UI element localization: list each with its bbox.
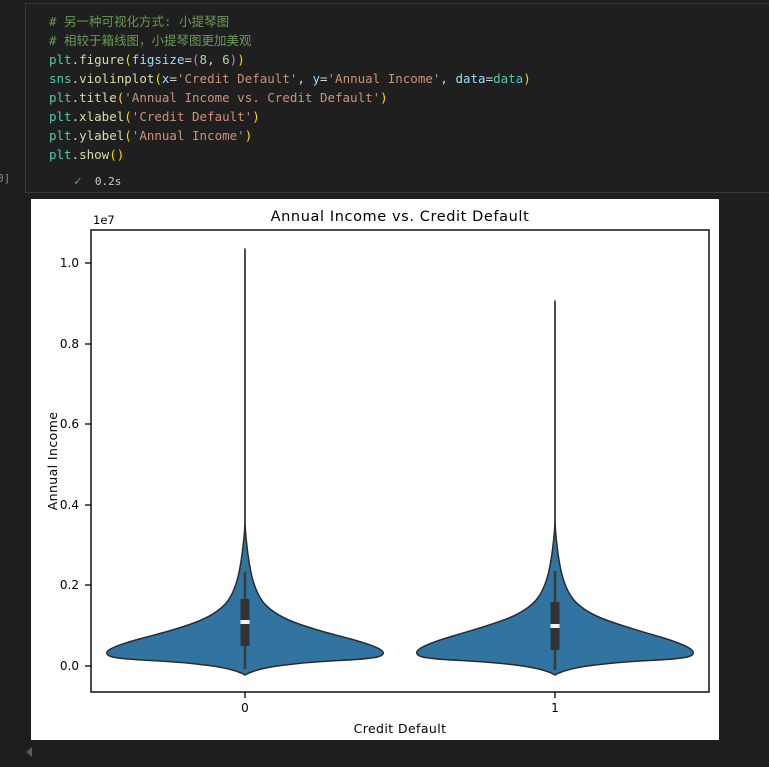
- code-token: ): [237, 52, 245, 67]
- x-axis-label: Credit Default: [354, 721, 447, 736]
- code-token: # 另一种可视化方式: 小提琴图: [49, 14, 229, 29]
- code-token: data: [493, 71, 523, 86]
- y-axis-offset-label: 1e7: [93, 213, 115, 227]
- violin-plot-figure: Annual Income vs. Credit Default 1e7: [31, 199, 719, 740]
- code-token: 'Annual Income': [132, 128, 245, 143]
- code-line[interactable]: sns.violinplot(x='Credit Default', y='An…: [49, 69, 531, 88]
- code-token: (: [109, 147, 117, 162]
- y-tick-label-4: 0.8: [60, 337, 79, 351]
- code-token: (: [154, 71, 162, 86]
- code-token: figure: [79, 52, 124, 67]
- code-token: title: [79, 90, 117, 105]
- notebook-cell: 0] # 另一种可视化方式: 小提琴图# 相较于箱线图，小提琴图更加美观plt.…: [0, 0, 769, 196]
- code-token: =: [486, 71, 494, 86]
- axes-background: [91, 230, 709, 692]
- triangle-left-icon[interactable]: [26, 747, 32, 757]
- code-token: .: [72, 147, 80, 162]
- code-token: 6: [222, 52, 230, 67]
- code-token: violinplot: [79, 71, 154, 86]
- code-token: ): [380, 90, 388, 105]
- code-token: 'Credit Default': [132, 109, 252, 124]
- code-token: (: [124, 128, 132, 143]
- output-scroll-row[interactable]: [0, 741, 769, 767]
- code-token: data: [455, 71, 485, 86]
- code-lines[interactable]: # 另一种可视化方式: 小提琴图# 相较于箱线图，小提琴图更加美观plt.fig…: [49, 12, 531, 164]
- code-token: show: [79, 147, 109, 162]
- code-token: ,: [207, 52, 222, 67]
- code-token: .: [72, 71, 80, 86]
- violin-median-1: [551, 624, 560, 628]
- code-token: plt: [49, 90, 72, 105]
- code-token: # 相较于箱线图，小提琴图更加美观: [49, 33, 252, 48]
- cell-run-status: ✓ 0.2s: [74, 175, 121, 188]
- code-token: ,: [297, 71, 312, 86]
- x-tick-label-1: 1: [551, 701, 559, 715]
- x-tick-label-0: 0: [241, 701, 249, 715]
- y-tick-label-2: 0.4: [60, 498, 79, 512]
- code-token: (: [192, 52, 200, 67]
- code-line[interactable]: # 相较于箱线图，小提琴图更加美观: [49, 31, 531, 50]
- y-tick-label-1: 0.2: [60, 578, 79, 592]
- cell-gutter: 0]: [0, 0, 24, 196]
- code-token: ylabel: [79, 128, 124, 143]
- code-line[interactable]: plt.figure(figsize=(8, 6)): [49, 50, 531, 69]
- code-token: .: [72, 128, 80, 143]
- code-token: =: [184, 52, 192, 67]
- y-tick-label-0: 0.0: [60, 659, 79, 673]
- execution-count-label: 0]: [0, 172, 10, 185]
- code-editor-panel[interactable]: # 另一种可视化方式: 小提琴图# 相较于箱线图，小提琴图更加美观plt.fig…: [25, 3, 769, 193]
- code-token: .: [72, 109, 80, 124]
- run-duration-label: 0.2s: [95, 175, 122, 188]
- code-token: plt: [49, 52, 72, 67]
- code-token: plt: [49, 109, 72, 124]
- chart-title: Annual Income vs. Credit Default: [271, 209, 530, 225]
- code-line[interactable]: # 另一种可视化方式: 小提琴图: [49, 12, 531, 31]
- code-token: 'Annual Income vs. Credit Default': [124, 90, 380, 105]
- code-token: (: [124, 52, 132, 67]
- code-token: y: [312, 71, 320, 86]
- y-axis-label: Annual Income: [45, 412, 60, 511]
- code-token: 'Annual Income': [328, 71, 441, 86]
- code-token: ): [252, 109, 260, 124]
- code-token: (: [124, 109, 132, 124]
- code-line[interactable]: plt.show(): [49, 145, 531, 164]
- code-token: ): [523, 71, 531, 86]
- code-token: ,: [440, 71, 455, 86]
- violin-median-0: [241, 620, 250, 624]
- code-token: plt: [49, 147, 72, 162]
- y-tick-label-5: 1.0: [60, 256, 79, 270]
- code-token: .: [72, 90, 80, 105]
- code-token: 8: [200, 52, 208, 67]
- code-token: ): [117, 147, 125, 162]
- code-token: sns: [49, 71, 72, 86]
- code-line[interactable]: plt.ylabel('Annual Income'): [49, 126, 531, 145]
- code-token: plt: [49, 128, 72, 143]
- figure-output: Annual Income vs. Credit Default 1e7: [31, 199, 719, 740]
- y-tick-label-3: 0.6: [60, 417, 79, 431]
- check-icon: ✓: [74, 175, 82, 188]
- code-token: =: [169, 71, 177, 86]
- code-line[interactable]: plt.xlabel('Credit Default'): [49, 107, 531, 126]
- code-token: figsize: [132, 52, 185, 67]
- code-line[interactable]: plt.title('Annual Income vs. Credit Defa…: [49, 88, 531, 107]
- code-token: =: [320, 71, 328, 86]
- code-token: xlabel: [79, 109, 124, 124]
- code-token: 'Credit Default': [177, 71, 297, 86]
- code-token: .: [72, 52, 80, 67]
- code-token: ): [245, 128, 253, 143]
